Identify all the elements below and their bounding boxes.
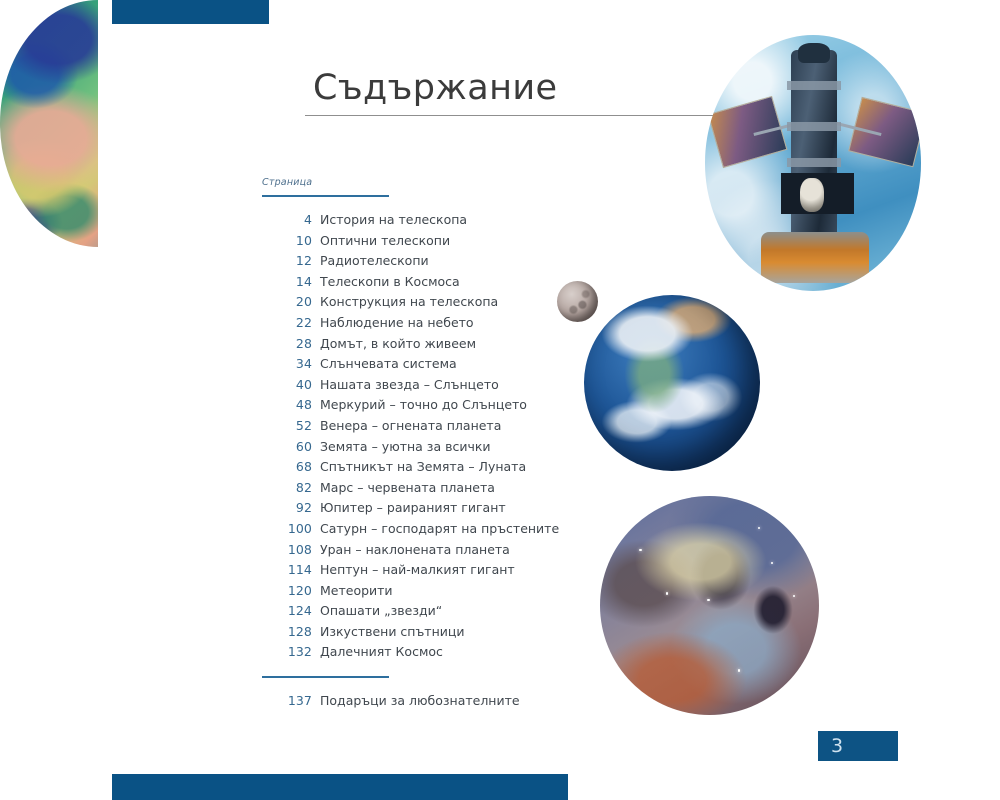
toc-entry-page: 137 xyxy=(262,693,312,708)
toc-entry-title: Земята – уютна за всички xyxy=(312,439,491,454)
toc-entry-title: Спътникът на Земята – Луната xyxy=(312,459,526,474)
toc-entry[interactable]: 12Радиотелескопи xyxy=(262,253,682,274)
toc-entry-page: 60 xyxy=(262,439,312,454)
toc-entry[interactable]: 120Метеорити xyxy=(262,583,682,604)
toc-entry-page: 12 xyxy=(262,253,312,268)
page-title: Съдържание xyxy=(313,68,557,108)
toc-entry[interactable]: 14Телескопи в Космоса xyxy=(262,274,682,295)
toc-entry[interactable]: 100Сатурн – господарят на пръстените xyxy=(262,521,682,542)
toc-entry-title: Домът, в който живеем xyxy=(312,336,476,351)
star-speck xyxy=(793,595,796,598)
title-divider xyxy=(305,115,727,116)
toc-entry-page: 128 xyxy=(262,624,312,639)
toc-entry-title: Марс – червената планета xyxy=(312,480,495,495)
toc-entry-title: Юпитер – раираният гигант xyxy=(312,500,506,515)
toc-entry-title: Меркурий – точно до Слънцето xyxy=(312,397,527,412)
toc-entry-title: Подаръци за любознателните xyxy=(312,693,520,708)
toc-entry-title: Опашати „звезди“ xyxy=(312,603,442,618)
toc-entry[interactable]: 34Слънчевата система xyxy=(262,356,682,377)
telescope-ring-lower xyxy=(787,158,841,167)
toc-entry-title: Оптични телескопи xyxy=(312,233,450,248)
star-speck xyxy=(758,527,761,530)
star-speck xyxy=(707,599,710,602)
toc-entry-page: 10 xyxy=(262,233,312,248)
toc-entry-page: 20 xyxy=(262,294,312,309)
toc-entry[interactable]: 108Уран – наклонената планета xyxy=(262,542,682,563)
telescope-aperture xyxy=(798,43,830,63)
solar-panel-left xyxy=(707,96,787,168)
toc-entry-page: 92 xyxy=(262,500,312,515)
toc-entry[interactable]: 114Нептун – най-малкият гигант xyxy=(262,562,682,583)
solar-panel-right xyxy=(848,97,921,167)
toc-entry[interactable]: 82Марс – червената планета xyxy=(262,480,682,501)
toc-entry-page: 48 xyxy=(262,397,312,412)
star-speck xyxy=(738,669,741,672)
toc-entry-title: Сатурн – господарят на пръстените xyxy=(312,521,559,536)
toc-entry-title: Конструкция на телескопа xyxy=(312,294,498,309)
toc-entry-title: Изкуствени спътници xyxy=(312,624,465,639)
toc-entry-page: 82 xyxy=(262,480,312,495)
toc-entry-page: 34 xyxy=(262,356,312,371)
toc-entry[interactable]: 22Наблюдение на небето xyxy=(262,315,682,336)
toc-entry-page: 40 xyxy=(262,377,312,392)
toc-entry[interactable]: 124Опашати „звезди“ xyxy=(262,603,682,624)
telescope-base xyxy=(761,232,869,283)
toc-entry-page: 14 xyxy=(262,274,312,289)
toc-entry-title: Радиотелескопи xyxy=(312,253,429,268)
toc-entry[interactable]: 92Юпитер – раираният гигант xyxy=(262,500,682,521)
toc-entry-page: 4 xyxy=(262,212,312,227)
toc-entry-title: Метеорити xyxy=(312,583,393,598)
toc-entry[interactable]: 10Оптични телескопи xyxy=(262,233,682,254)
toc-entry-title: Слънчевата система xyxy=(312,356,457,371)
toc-entry[interactable]: 128Изкуствени спътници xyxy=(262,624,682,645)
toc-entry-page: 28 xyxy=(262,336,312,351)
toc-entry-page: 120 xyxy=(262,583,312,598)
venus-radar-map-photo xyxy=(0,0,196,247)
toc-entry[interactable]: 4История на телескопа xyxy=(262,212,682,233)
toc-entry-title: Нашата звезда – Слънцето xyxy=(312,377,499,392)
toc-entry-title: История на телескопа xyxy=(312,212,467,227)
toc-entry-page: 68 xyxy=(262,459,312,474)
toc-entry-page: 52 xyxy=(262,418,312,433)
toc-entry[interactable]: 48Меркурий – точно до Слънцето xyxy=(262,397,682,418)
toc-entry[interactable]: 28Домът, в който живеем xyxy=(262,336,682,357)
toc-entry-page: 108 xyxy=(262,542,312,557)
toc-entry-title: Нептун – най-малкият гигант xyxy=(312,562,515,577)
star-speck xyxy=(771,562,774,565)
table-of-contents: 4История на телескопа10Оптични телескопи… xyxy=(262,212,682,665)
toc-entry-page: 114 xyxy=(262,562,312,577)
toc-entry-title: Наблюдение на небето xyxy=(312,315,474,330)
toc-entry-footer[interactable]: 137 Подаръци за любознателните xyxy=(262,693,520,714)
telescope-ring-mid xyxy=(787,122,841,131)
top-accent-bar xyxy=(112,0,269,24)
toc-entry[interactable]: 60Земята – уютна за всички xyxy=(262,439,682,460)
page-column-label: Страница xyxy=(262,177,312,188)
telescope-ring-upper xyxy=(787,81,841,90)
toc-entry-title: Венера – огнената планета xyxy=(312,418,501,433)
toc-footer-divider xyxy=(262,676,389,678)
toc-entry[interactable]: 132Далечният Космос xyxy=(262,644,682,665)
toc-entry[interactable]: 20Конструкция на телескопа xyxy=(262,294,682,315)
toc-entry-title: Телескопи в Космоса xyxy=(312,274,460,289)
toc-entry[interactable]: 68Спътникът на Земята – Луната xyxy=(262,459,682,480)
bottom-accent-bar xyxy=(112,774,568,800)
toc-entry-page: 22 xyxy=(262,315,312,330)
astronaut xyxy=(800,178,824,211)
toc-entry-page: 132 xyxy=(262,644,312,659)
toc-entry-title: Уран – наклонената планета xyxy=(312,542,510,557)
toc-entry[interactable]: 52Венера – огнената планета xyxy=(262,418,682,439)
toc-entry[interactable]: 40Нашата звезда – Слънцето xyxy=(262,377,682,398)
page-column-divider xyxy=(262,195,389,197)
toc-entry-title: Далечният Космос xyxy=(312,644,443,659)
hubble-space-telescope-photo xyxy=(705,35,921,291)
toc-entry-page: 124 xyxy=(262,603,312,618)
toc-entry-page: 100 xyxy=(262,521,312,536)
page-number-badge: 3 xyxy=(818,731,898,761)
